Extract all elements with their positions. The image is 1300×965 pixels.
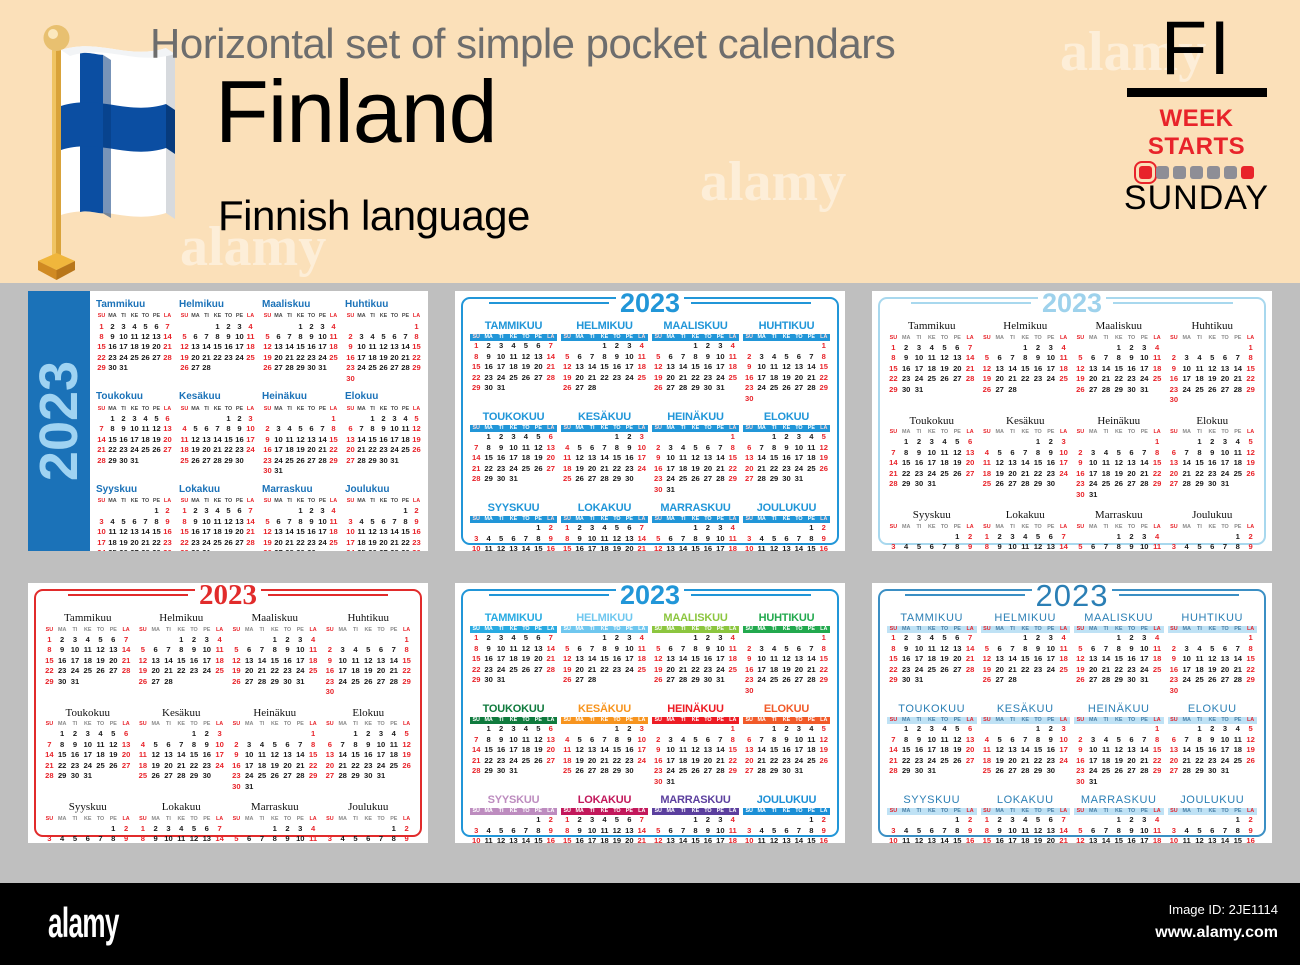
day-cell: 28 (1006, 385, 1019, 395)
week-row: 9101112131415 (262, 435, 339, 445)
day-cell: 12 (611, 534, 623, 544)
weekday-header-to: TO (1032, 523, 1045, 532)
day-cell: 2 (69, 729, 82, 739)
week-row: 14151617181920 (470, 453, 557, 463)
day-cell: 8 (107, 424, 118, 434)
day-cell: 22 (598, 665, 610, 675)
calendar-card-v2-blue-bars[interactable]: 2023TAMMIKUUSUMATIKETOPELA12345678910111… (455, 291, 845, 551)
month-name: MARRASKUU (652, 794, 739, 808)
day-cell: 12 (611, 826, 623, 836)
day-cell-empty (793, 394, 805, 404)
day-cell: 29 (307, 771, 320, 781)
weekday-header-pe: PE (387, 720, 400, 729)
day-cell: 17 (793, 453, 805, 463)
day-cell: 26 (268, 771, 281, 781)
month-block-heinäkuu: HeinäkuuSUMATIKETOPELA 12345678910111213… (262, 391, 339, 476)
week-row: 567891011 (561, 644, 648, 654)
day-cell: 16 (545, 836, 557, 843)
week-row: 12 (470, 815, 557, 825)
week-row: 78910111213 (470, 443, 557, 453)
week-row: 23242526272829 (652, 766, 739, 776)
weekday-header-la: LA (818, 717, 830, 724)
week-row: 1234 (137, 635, 227, 645)
weekday-header-ti: TI (586, 808, 598, 815)
day-cell: 19 (411, 435, 422, 445)
month-day-table: SUMATIKETOPELA 1234567891011121314151617… (981, 626, 1071, 686)
week-row: 6789101112 (1168, 735, 1258, 745)
day-cell-empty (913, 532, 926, 542)
weekday-header-pe: PE (1231, 523, 1244, 532)
day-cell: 15 (56, 750, 69, 760)
day-cell: 13 (1006, 745, 1019, 755)
calendar-card-v6-lightblue-bars[interactable]: 2023TAMMIKUUSUMATIKETOPELA12345678910111… (872, 583, 1272, 843)
weekday-header-ma: MA (56, 720, 69, 729)
day-cell: 1 (400, 635, 413, 645)
week-row: 262728293031 (1074, 675, 1164, 685)
day-cell: 12 (495, 544, 507, 551)
day-cell: 24 (925, 469, 938, 479)
weekday-header-ti: TI (69, 626, 82, 635)
day-cell: 27 (702, 474, 714, 484)
day-cell: 21 (805, 665, 817, 675)
day-cell: 15 (887, 654, 900, 664)
day-cell: 5 (1193, 542, 1206, 551)
day-cell-empty (356, 374, 367, 384)
weekday-header-ti: TI (118, 313, 129, 322)
day-cell-empty (162, 635, 175, 645)
day-cell: 7 (317, 424, 328, 434)
weekday-header-ma: MA (1087, 523, 1100, 532)
day-cell: 10 (96, 527, 107, 537)
day-cell: 2 (400, 824, 413, 834)
week-row: 30 (743, 686, 830, 696)
day-cell: 7 (964, 633, 977, 643)
day-cell: 10 (743, 836, 755, 843)
day-cell: 16 (964, 836, 977, 843)
day-cell: 20 (1219, 374, 1232, 384)
week-row: 12131415161718 (262, 342, 339, 352)
day-cell-empty (281, 729, 294, 739)
weekday-header-pe: PE (1044, 428, 1057, 437)
weekday-header-to: TO (1219, 428, 1232, 437)
day-cell: 20 (1219, 665, 1232, 675)
day-cell: 23 (623, 756, 635, 766)
day-cell: 21 (1100, 665, 1113, 675)
day-cell: 9 (482, 644, 494, 654)
day-cell: 9 (545, 534, 557, 544)
day-cell-empty (818, 394, 830, 404)
day-cell: 28 (96, 456, 107, 466)
week-row: 2345678 (1168, 644, 1258, 654)
week-row: 3456789 (887, 826, 977, 836)
day-cell: 25 (179, 456, 190, 466)
day-cell-empty (356, 506, 367, 516)
day-cell-empty (367, 322, 378, 332)
day-cell: 6 (273, 517, 284, 527)
month-name: HUHTIKUU (743, 320, 830, 334)
day-cell: 30 (324, 687, 337, 697)
day-cell: 19 (611, 544, 623, 551)
weekday-header-to: TO (1032, 808, 1045, 815)
week-row: 9101112131415 (345, 342, 422, 352)
day-cell: 20 (273, 353, 284, 363)
day-cell: 7 (755, 443, 767, 453)
day-cell: 29 (1032, 766, 1045, 776)
day-cell: 6 (1206, 542, 1219, 551)
day-cell: 26 (818, 464, 830, 474)
day-cell: 10 (755, 362, 767, 372)
weekday-header-ti: TI (768, 516, 780, 523)
day-cell: 3 (43, 834, 56, 843)
day-cell: 12 (1074, 654, 1087, 664)
weekday-header-pe: PE (623, 626, 635, 633)
day-cell: 15 (727, 453, 739, 463)
day-cell: 18 (598, 544, 610, 551)
day-cell: 3 (273, 424, 284, 434)
day-cell: 17 (1180, 665, 1193, 675)
day-cell-empty (179, 322, 190, 332)
day-cell: 4 (107, 517, 118, 527)
weekday-header-ke: KE (81, 815, 94, 824)
day-cell: 4 (755, 826, 767, 836)
day-cell: 8 (43, 645, 56, 655)
day-cell: 24 (213, 761, 226, 771)
day-cell-empty (1112, 490, 1125, 500)
day-cell: 27 (964, 756, 977, 766)
day-cell: 12 (137, 656, 150, 666)
week-row: 13141516171819 (1168, 458, 1258, 468)
weekday-header-ma: MA (1180, 626, 1193, 633)
weekday-header-su: SU (743, 626, 755, 633)
week-row: 13141516171819 (1168, 745, 1258, 755)
day-cell: 8 (1019, 353, 1032, 363)
calendar-card-v4-red-serif[interactable]: 2023TammikuuSUMATIKETOPELA12345678910111… (28, 583, 428, 843)
day-cell: 4 (805, 432, 817, 442)
day-cell-empty (768, 523, 780, 533)
day-cell-empty (362, 824, 375, 834)
day-cell: 18 (256, 761, 269, 771)
day-cell: 21 (887, 469, 900, 479)
day-cell: 23 (162, 538, 173, 548)
day-cell: 19 (1206, 665, 1219, 675)
day-cell: 23 (1032, 665, 1045, 675)
day-cell: 29 (349, 771, 362, 781)
day-cell: 16 (345, 353, 356, 363)
week-row: 1234 (652, 523, 739, 533)
weekday-header-la: LA (964, 808, 977, 815)
day-cell: 6 (664, 826, 676, 836)
day-cell: 5 (137, 645, 150, 655)
day-cell: 6 (1087, 644, 1100, 654)
day-cell: 25 (307, 666, 320, 676)
day-cell: 20 (149, 666, 162, 676)
day-cell: 19 (149, 761, 162, 771)
weekday-header-la: LA (328, 497, 339, 506)
day-cell-empty (1244, 395, 1257, 405)
month-name: TOUKOKUU (887, 703, 977, 717)
weekday-header-pe: PE (400, 405, 411, 414)
month-day-table: SUMATIKETOPELA 1234567891011121314151617… (1168, 808, 1258, 843)
week-row: 20212223242526 (743, 756, 830, 766)
weekday-header-la: LA (818, 334, 830, 341)
day-cell: 19 (520, 654, 532, 664)
day-cell: 3 (887, 542, 900, 551)
day-cell: 5 (230, 834, 243, 843)
day-cell: 3 (714, 633, 726, 643)
day-cell: 9 (162, 517, 173, 527)
weekday-header-to: TO (223, 497, 234, 506)
weekday-header-su: SU (345, 313, 356, 322)
day-cell: 29 (689, 383, 701, 393)
week-row: 21222324252627 (887, 756, 977, 766)
week-row: 567891011 (561, 352, 648, 362)
day-cell-empty (324, 635, 337, 645)
week-row: 252627282930 (179, 456, 256, 466)
day-cell: 27 (793, 675, 805, 685)
week-row: 22232425262728 (887, 374, 977, 384)
weekday-header-ti: TI (495, 808, 507, 815)
weekday-header-ti: TI (201, 313, 212, 322)
weekday-header-ke: KE (507, 626, 519, 633)
day-cell: 6 (586, 443, 598, 453)
day-cell: 7 (545, 633, 557, 643)
day-cell: 18 (284, 445, 295, 455)
day-cell: 4 (284, 424, 295, 434)
day-cell: 24 (389, 445, 400, 455)
weekday-header-to: TO (520, 808, 532, 815)
day-cell: 19 (1074, 665, 1087, 675)
day-cell-empty (1100, 777, 1113, 787)
month-name: JOULUKUU (1168, 794, 1258, 808)
month-name: HUHTIKUU (743, 612, 830, 626)
day-cell: 9 (993, 542, 1006, 551)
day-cell: 6 (623, 523, 635, 533)
day-cell: 4 (1151, 343, 1164, 353)
day-cell: 4 (598, 523, 610, 533)
day-cell: 29 (1244, 385, 1257, 395)
month-block-helmikuu: HelmikuuSUMATIKETOPELA 12345678910111213… (981, 320, 1071, 406)
weekday-header-la: LA (1244, 428, 1257, 437)
day-cell-empty (611, 675, 623, 685)
day-cell: 6 (1168, 448, 1181, 458)
day-cell: 18 (1100, 469, 1113, 479)
weekday-header-to: TO (611, 717, 623, 724)
day-cell: 16 (743, 373, 755, 383)
month-day-table: SUMATIKETOPELA 1234567891011121314151617… (887, 428, 977, 489)
weekday-header-ke: KE (1206, 428, 1219, 437)
day-cell-empty (1100, 724, 1113, 734)
day-cell: 19 (107, 750, 120, 760)
day-cell: 4 (1100, 735, 1113, 745)
month-day-table: SUMATIKETOPELA 1234567891011121314151617… (345, 313, 422, 385)
day-cell: 11 (755, 836, 767, 843)
weekday-header-su: SU (561, 334, 573, 341)
calendar-card-v1-blue-sidebar[interactable]: 2023TammikuuSUMATIKETOPELA12345678910111… (28, 291, 428, 551)
month-block-elokuu: ELOKUUSUMATIKETOPELA 1234567891011121314… (743, 411, 830, 495)
week-row: 23242526272829 (1168, 385, 1258, 395)
day-cell: 13 (532, 352, 544, 362)
day-cell: 2 (1074, 448, 1087, 458)
calendar-card-v5-multicolor[interactable]: 2023TAMMIKUUSUMATIKETOPELA12345678910111… (455, 583, 845, 843)
day-cell: 3 (714, 815, 726, 825)
day-cell-empty (1244, 686, 1257, 696)
day-cell: 8 (470, 352, 482, 362)
day-cell-empty (520, 523, 532, 533)
day-cell-empty (245, 548, 256, 551)
day-cell: 18 (561, 756, 573, 766)
day-cell: 17 (1219, 458, 1232, 468)
months-grid: TammikuuSUMATIKETOPELA123456789101112131… (36, 610, 420, 843)
month-day-table: SUMATIKETOPELA12345678910111213141516171… (470, 626, 557, 686)
month-block-heinäkuu: HEINÄKUUSUMATIKETOPELA 12345678910111213… (652, 411, 739, 495)
day-cell: 30 (900, 675, 913, 685)
day-cell: 12 (780, 654, 792, 664)
weekday-header-su: SU (561, 425, 573, 432)
weekday-header-ti: TI (256, 815, 269, 824)
day-cell-empty (755, 686, 767, 696)
calendar-card-v3-paleblue-serif[interactable]: 2023TammikuuSUMATIKETOPELA12345678910111… (872, 291, 1272, 551)
day-cell: 3 (1138, 815, 1151, 825)
day-cell: 2 (573, 815, 585, 825)
weekday-header-su: SU (96, 405, 107, 414)
weekday-header-ma: MA (900, 428, 913, 437)
day-cell: 13 (1087, 654, 1100, 664)
day-cell-empty (938, 675, 951, 685)
day-cell: 18 (1231, 458, 1244, 468)
months-grid: TAMMIKUUSUMATIKETOPELA123456789101112131… (463, 318, 837, 551)
day-cell: 27 (664, 675, 676, 685)
weekday-header-su: SU (743, 717, 755, 724)
day-cell: 2 (1125, 343, 1138, 353)
day-cell: 24 (243, 771, 256, 781)
day-cell-empty (389, 506, 400, 516)
weekday-header-su: SU (887, 717, 900, 724)
month-name: Tammikuu (887, 320, 977, 334)
day-cell: 8 (1019, 644, 1032, 654)
day-cell: 9 (1168, 364, 1181, 374)
day-cell: 27 (1219, 385, 1232, 395)
day-cell: 16 (1125, 364, 1138, 374)
day-cell: 22 (328, 445, 339, 455)
day-cell: 11 (520, 735, 532, 745)
day-cell-empty (1125, 777, 1138, 787)
day-cell: 28 (1180, 479, 1193, 489)
day-cell: 16 (702, 654, 714, 664)
month-day-table: SUMATIKETOPELA 1234567891011121314151617… (324, 626, 414, 698)
year-dash-right (1113, 302, 1233, 304)
day-cell: 17 (129, 435, 140, 445)
day-cell: 7 (212, 424, 223, 434)
day-cell: 6 (81, 834, 94, 843)
day-cell: 24 (495, 665, 507, 675)
day-cell-empty (162, 363, 173, 373)
weekday-header-ti: TI (1006, 717, 1019, 724)
day-cell: 19 (652, 665, 664, 675)
year-header: 2023 (36, 583, 420, 610)
day-cell: 21 (336, 761, 349, 771)
day-cell: 6 (993, 353, 1006, 363)
weekday-header-la: LA (727, 516, 739, 523)
weekday-header-pe: PE (805, 334, 817, 341)
month-day-table: SUMATIKETOPELA 1234567891011121314151617… (137, 626, 227, 687)
day-cell: 25 (94, 761, 107, 771)
day-cell: 17 (243, 761, 256, 771)
card-border: 2023TAMMIKUUSUMATIKETOPELA12345678910111… (461, 297, 839, 545)
day-cell: 6 (375, 645, 388, 655)
day-cell: 3 (389, 414, 400, 424)
day-cell: 15 (107, 435, 118, 445)
weekday-header-ma: MA (664, 516, 676, 523)
week-row: 1 (743, 633, 830, 643)
day-cell: 27 (273, 548, 284, 551)
day-cell: 5 (118, 517, 129, 527)
day-cell: 17 (273, 445, 284, 455)
day-cell: 8 (768, 443, 780, 453)
day-cell-empty (677, 523, 689, 533)
day-cell-empty (573, 432, 585, 442)
day-cell: 14 (964, 644, 977, 654)
day-cell-empty (1180, 686, 1193, 696)
day-cell: 24 (1057, 756, 1070, 766)
day-cell-empty (367, 506, 378, 516)
day-cell: 12 (951, 448, 964, 458)
day-cell-empty (1168, 437, 1181, 447)
weekday-header-ma: MA (56, 626, 69, 635)
day-cell-empty (1019, 385, 1032, 395)
week-row: 891011121314 (981, 542, 1071, 551)
day-cell-empty (336, 824, 349, 834)
day-cell: 2 (993, 532, 1006, 542)
weekday-header-su: SU (230, 815, 243, 824)
day-cell: 6 (1219, 353, 1232, 363)
day-cell: 7 (1138, 448, 1151, 458)
day-cell: 25 (805, 464, 817, 474)
weekday-header-to: TO (140, 313, 151, 322)
weekday-header-la: LA (1057, 428, 1070, 437)
day-cell: 18 (328, 342, 339, 352)
day-cell: 11 (179, 435, 190, 445)
day-cell: 3 (1168, 826, 1181, 836)
weekday-header-ke: KE (925, 626, 938, 633)
day-cell: 12 (140, 332, 151, 342)
day-cell: 11 (213, 645, 226, 655)
day-cell-empty (981, 437, 994, 447)
day-cell-empty (284, 414, 295, 424)
month-name: MARRASKUU (1074, 794, 1164, 808)
day-cell: 28 (294, 771, 307, 781)
month-name: MAALISKUU (652, 612, 739, 626)
day-cell-empty (1193, 815, 1206, 825)
day-cell: 18 (561, 464, 573, 474)
week-row: 10111213141516 (743, 836, 830, 843)
day-cell: 24 (200, 666, 213, 676)
day-cell: 14 (636, 534, 648, 544)
day-cell: 31 (243, 782, 256, 792)
week-row: 9101112131415 (324, 656, 414, 666)
day-cell: 1 (268, 824, 281, 834)
day-cell: 8 (900, 448, 913, 458)
weekday-header-ke: KE (598, 425, 610, 432)
day-cell-empty (677, 485, 689, 495)
day-cell: 5 (151, 414, 162, 424)
weekday-header-pe: PE (714, 516, 726, 523)
day-cell: 10 (623, 644, 635, 654)
day-cell: 21 (175, 761, 188, 771)
day-cell: 5 (561, 352, 573, 362)
day-cell: 20 (162, 761, 175, 771)
day-cell: 15 (805, 544, 817, 551)
day-cell: 16 (223, 342, 234, 352)
